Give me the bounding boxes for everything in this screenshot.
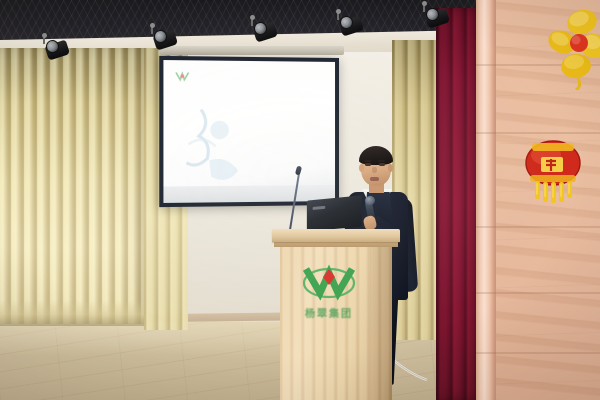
- lectern-side-panel: [370, 247, 392, 400]
- company-logo-icon: [298, 257, 360, 303]
- wall-panel-seam: [476, 226, 600, 228]
- wall-panel-seam: [476, 352, 600, 354]
- gold-balloon-cluster: [548, 0, 600, 90]
- mouth: [370, 177, 379, 181]
- spotlight-knob: [150, 23, 155, 28]
- eyebrow-left: [364, 160, 371, 162]
- photograph-scene: 杨翠集团: [0, 0, 600, 400]
- laptop: [307, 195, 362, 231]
- wall-molding-strip: [476, 0, 496, 400]
- ear-right: [388, 164, 393, 172]
- wall-panel-seam: [476, 292, 600, 294]
- ear-left: [359, 164, 364, 172]
- red-lantern-balloon: [519, 133, 587, 205]
- nose: [372, 167, 377, 173]
- lectern: 杨翠集团: [272, 229, 400, 400]
- spotlight-knob: [422, 1, 427, 6]
- screen-roller-casing: [160, 46, 344, 55]
- hair: [359, 146, 393, 165]
- eyebrow-right: [378, 160, 385, 162]
- projection-screen: [159, 56, 339, 207]
- eye-left: [365, 163, 371, 166]
- eye-right: [379, 163, 385, 166]
- screen-surface: [163, 60, 335, 203]
- lectern-top-surface: [272, 229, 400, 242]
- company-name-text: 杨翠集团: [286, 305, 372, 320]
- curtain-hem-left: [0, 300, 148, 326]
- spotlight-knob: [336, 9, 341, 14]
- spotlight-knob: [42, 33, 47, 38]
- slide-logo-icon: [174, 70, 197, 85]
- gold-curtain-left: [0, 48, 148, 324]
- spotlight-knob: [250, 15, 255, 20]
- slide-graphic: [178, 99, 271, 193]
- laptop-brand-mark: [313, 206, 326, 210]
